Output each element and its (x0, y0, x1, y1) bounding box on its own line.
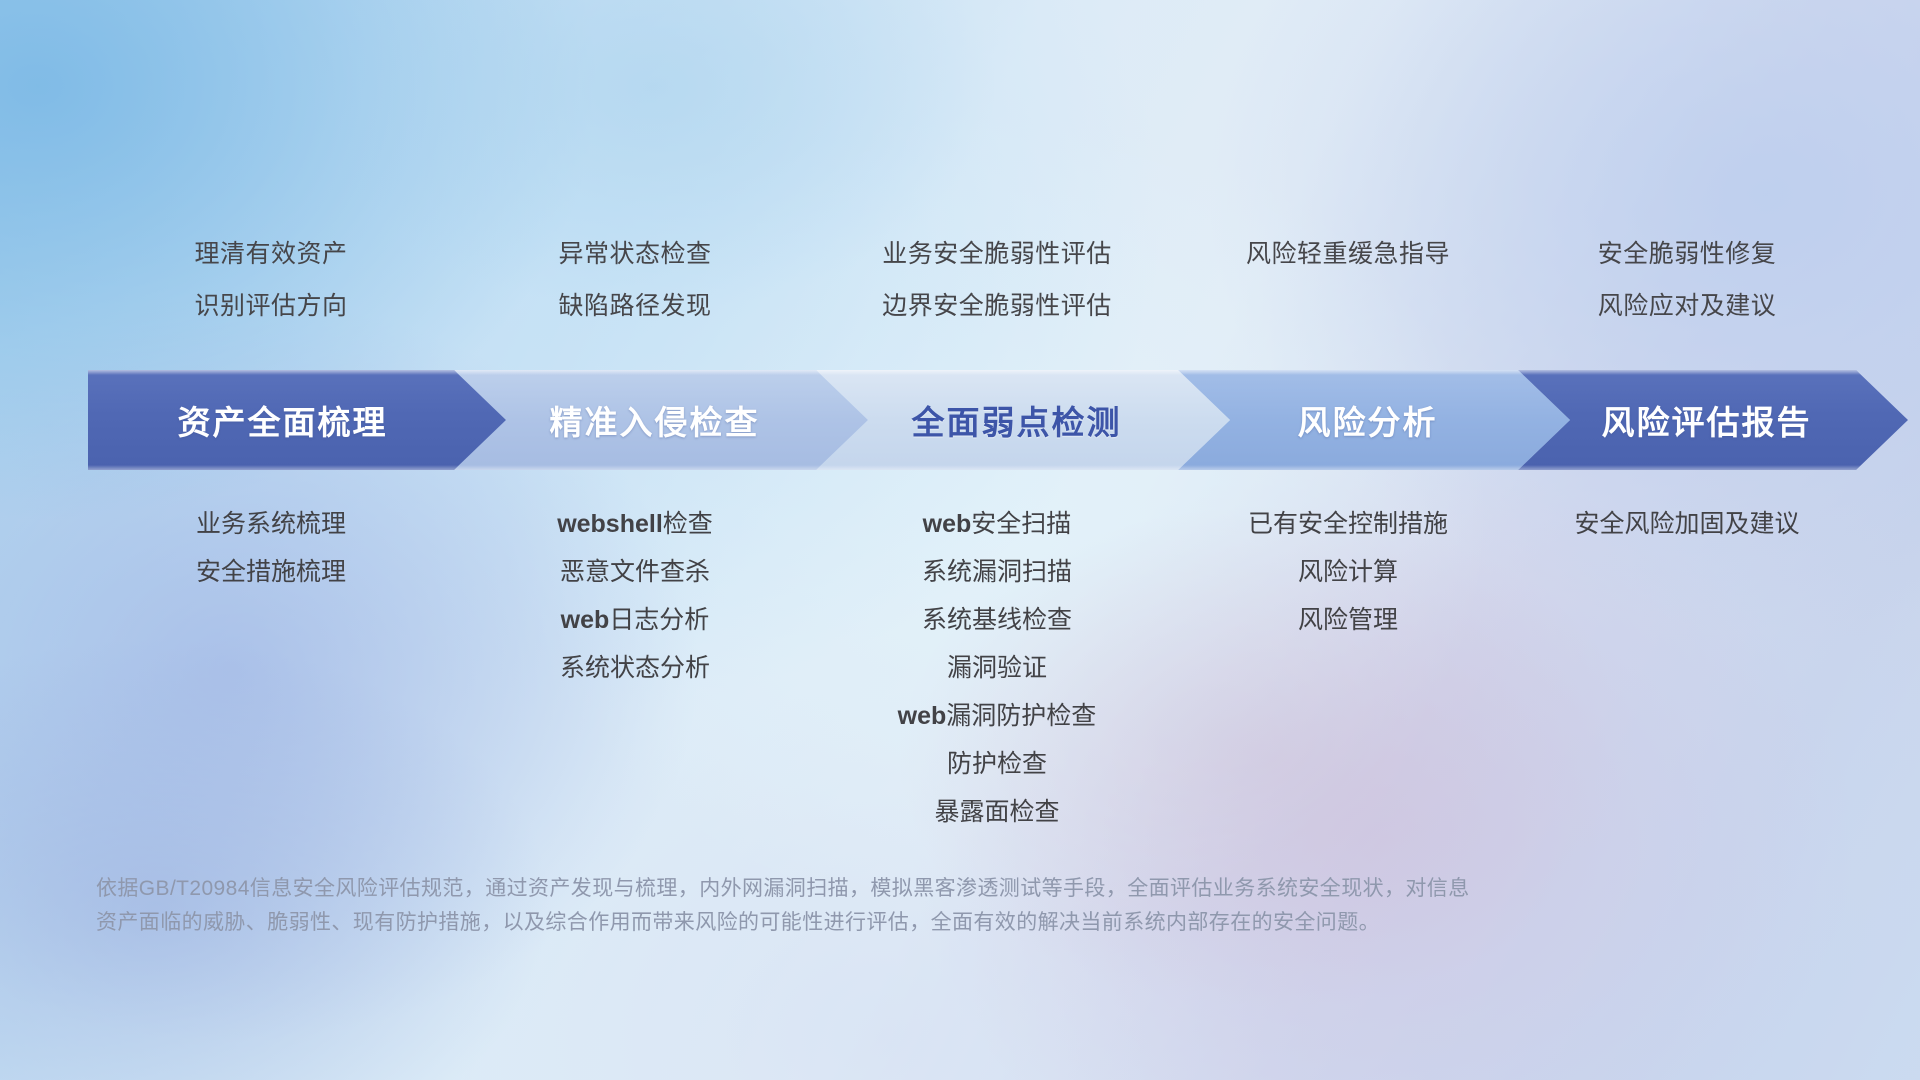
stage-title: 风险评估报告 (1602, 396, 1812, 444)
stage-chevron-2[interactable]: 精准入侵检查 (454, 370, 868, 470)
footer-line-2: 资产面临的威胁、脆弱性、现有防护措施，以及综合作用而带来风险的可能性进行评估，全… (96, 906, 1636, 940)
stage-title: 资产全面梳理 (178, 396, 388, 444)
stage-title: 全面弱点检测 (912, 396, 1122, 444)
stage-item: web安全扫描 (816, 500, 1178, 548)
top-note: 业务安全脆弱性评估 (816, 228, 1178, 280)
top-notes-col-1: 理清有效资产识别评估方向 (88, 228, 454, 332)
stage-item: web日志分析 (454, 596, 816, 644)
top-note: 风险轻重缓急指导 (1178, 228, 1518, 280)
top-note: 缺陷路径发现 (454, 280, 816, 332)
stage-title: 风险分析 (1298, 396, 1438, 444)
stage-items-col-4: 已有安全控制措施风险计算风险管理 (1178, 500, 1518, 644)
top-note: 安全脆弱性修复 (1518, 228, 1856, 280)
top-note: 异常状态检查 (454, 228, 816, 280)
stage-item: 暴露面检查 (816, 788, 1178, 836)
stage-chevron-4[interactable]: 风险分析 (1178, 370, 1570, 470)
stage-item: 风险管理 (1178, 596, 1518, 644)
stage-item: 安全措施梳理 (88, 548, 454, 596)
top-note: 识别评估方向 (88, 280, 454, 332)
stage-chevron-1[interactable]: 资产全面梳理 (88, 370, 506, 470)
stage-item: 已有安全控制措施 (1178, 500, 1518, 548)
stage-items-col-5: 安全风险加固及建议 (1518, 500, 1856, 548)
stage-items-col-1: 业务系统梳理安全措施梳理 (88, 500, 454, 596)
slide-frame: 理清有效资产识别评估方向异常状态检查缺陷路径发现业务安全脆弱性评估边界安全脆弱性… (0, 0, 1920, 1080)
stage-chevron-5[interactable]: 风险评估报告 (1518, 370, 1908, 470)
bottom-lists-row: 业务系统梳理安全措施梳理webshell检查恶意文件查杀web日志分析系统状态分… (88, 500, 1856, 836)
stage-item: 安全风险加固及建议 (1518, 500, 1856, 548)
top-notes-col-2: 异常状态检查缺陷路径发现 (454, 228, 816, 332)
top-note: 风险应对及建议 (1518, 280, 1856, 332)
stage-items-col-2: webshell检查恶意文件查杀web日志分析系统状态分析 (454, 500, 816, 692)
top-notes-col-5: 安全脆弱性修复风险应对及建议 (1518, 228, 1856, 332)
top-note: 理清有效资产 (88, 228, 454, 280)
top-notes-row: 理清有效资产识别评估方向异常状态检查缺陷路径发现业务安全脆弱性评估边界安全脆弱性… (88, 228, 1856, 332)
stage-item: 系统状态分析 (454, 644, 816, 692)
stage-title: 精准入侵检查 (550, 396, 760, 444)
top-note: 边界安全脆弱性评估 (816, 280, 1178, 332)
stage-item: 系统基线检查 (816, 596, 1178, 644)
top-notes-col-3: 业务安全脆弱性评估边界安全脆弱性评估 (816, 228, 1178, 332)
footer-description: 依据GB/T20984信息安全风险评估规范，通过资产发现与梳理，内外网漏洞扫描，… (96, 872, 1636, 940)
stage-item: webshell检查 (454, 500, 816, 548)
stage-item: 业务系统梳理 (88, 500, 454, 548)
stage-item: 系统漏洞扫描 (816, 548, 1178, 596)
stage-item: 风险计算 (1178, 548, 1518, 596)
stage-item: 恶意文件查杀 (454, 548, 816, 596)
stage-item: 防护检查 (816, 740, 1178, 788)
stage-item: web漏洞防护检查 (816, 692, 1178, 740)
process-chevron-band: 资产全面梳理精准入侵检查全面弱点检测风险分析风险评估报告 (88, 370, 1856, 470)
top-notes-col-4: 风险轻重缓急指导 (1178, 228, 1518, 280)
stage-chevron-3[interactable]: 全面弱点检测 (816, 370, 1230, 470)
stage-item: 漏洞验证 (816, 644, 1178, 692)
footer-line-1: 依据GB/T20984信息安全风险评估规范，通过资产发现与梳理，内外网漏洞扫描，… (96, 872, 1636, 906)
stage-items-col-3: web安全扫描系统漏洞扫描系统基线检查漏洞验证web漏洞防护检查防护检查暴露面检… (816, 500, 1178, 836)
